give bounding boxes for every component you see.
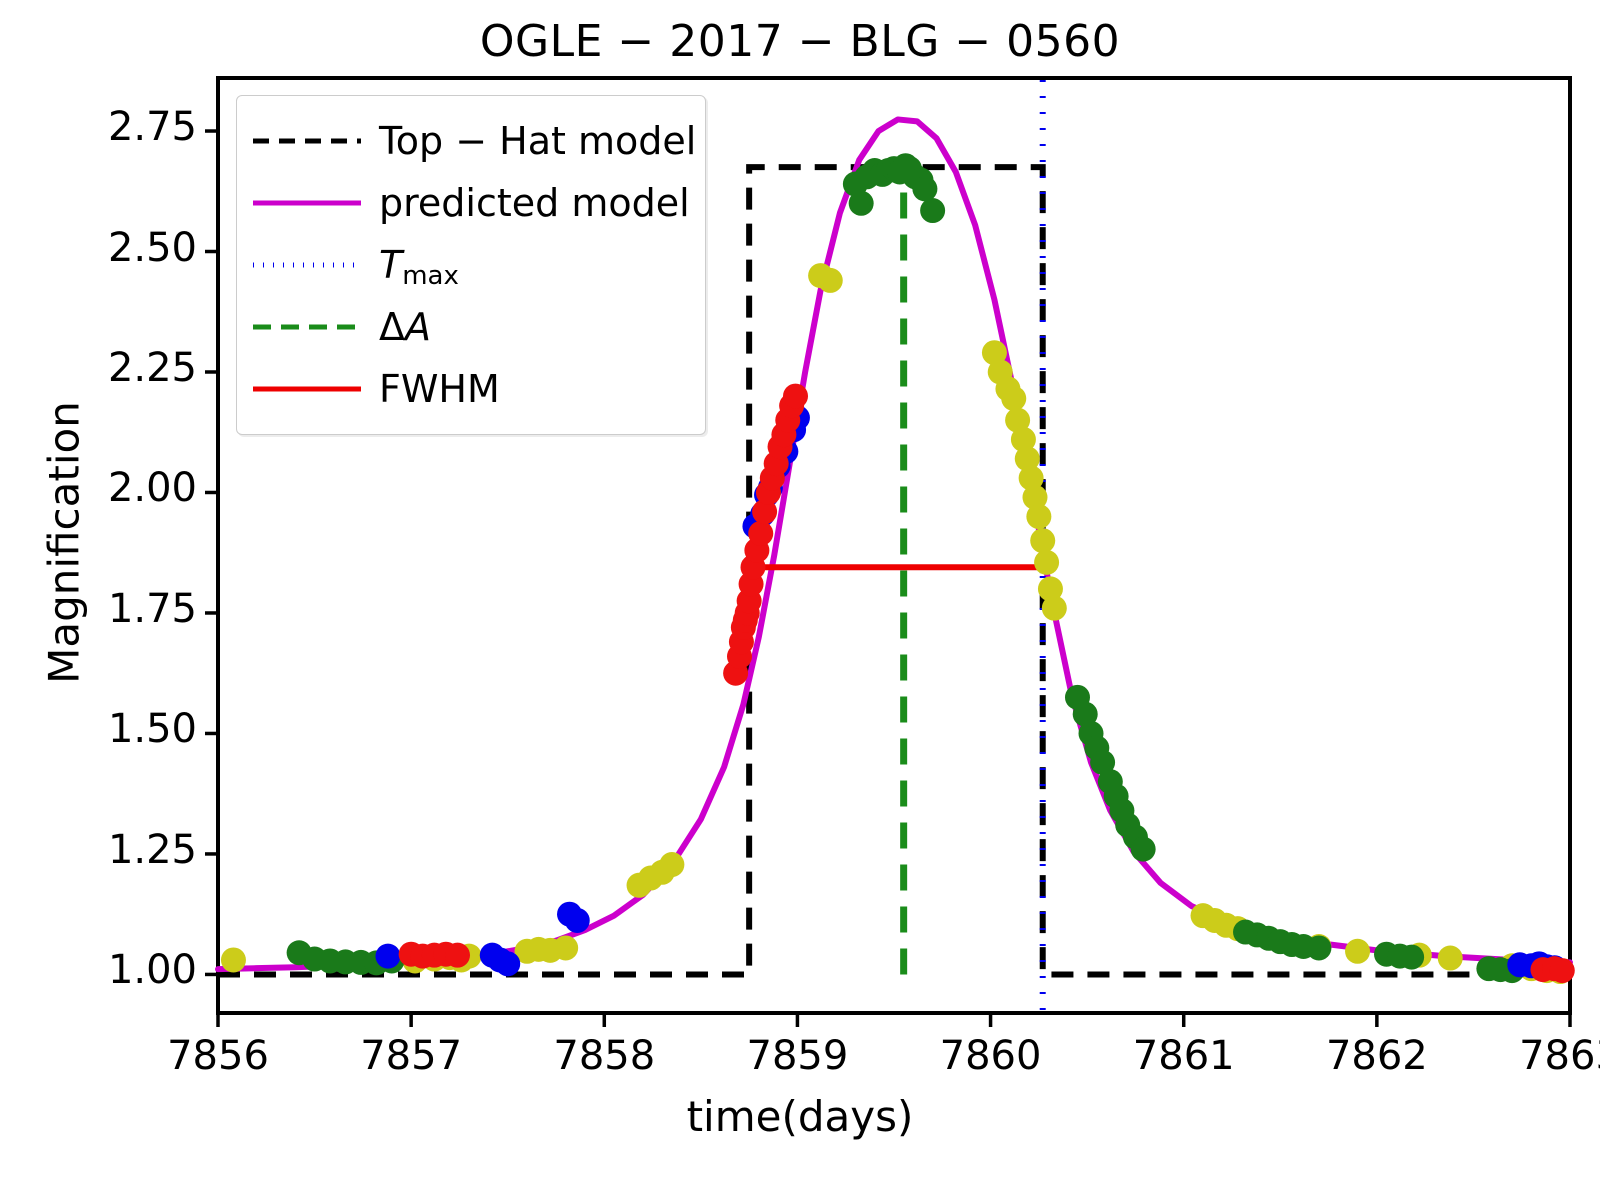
x-tick-label: 7857 — [311, 1033, 511, 1079]
y-tick-label: 2.50 — [37, 225, 197, 271]
data-point — [1438, 946, 1463, 971]
data-point — [1306, 935, 1331, 960]
y-tick-label: 1.00 — [37, 947, 197, 993]
data-point — [1131, 837, 1156, 862]
legend-swatch-solid-red — [251, 374, 363, 404]
data-point — [495, 951, 520, 976]
legend-label-fwhm: FWHM — [379, 367, 500, 411]
data-point — [1042, 596, 1067, 621]
legend-swatch-dashed-black — [251, 126, 363, 156]
data-point — [912, 176, 937, 201]
x-tick-label: 7861 — [1084, 1033, 1284, 1079]
figure-canvas: OGLE − 2017 − BLG − 0560 time(days) Magn… — [0, 0, 1600, 1200]
data-point — [221, 947, 246, 972]
y-tick-label: 2.00 — [37, 465, 197, 511]
data-point — [920, 198, 945, 223]
legend-label-top-hat-model: Top − Hat model — [379, 119, 696, 163]
legend-label-tmax: Tmax — [379, 243, 459, 287]
data-point — [1026, 504, 1051, 529]
data-point — [659, 852, 684, 877]
data-point — [565, 908, 590, 933]
data-point — [1030, 528, 1055, 553]
y-tick-label: 1.25 — [37, 827, 197, 873]
data-point — [1034, 550, 1059, 575]
y-tick-label: 2.75 — [37, 104, 197, 150]
legend: Top − Hat model predicted model Tmax ΔA … — [236, 95, 706, 435]
legend-item-delta-a: ΔA — [251, 296, 689, 358]
legend-item-predicted-model: predicted model — [251, 172, 689, 234]
data-point — [818, 268, 843, 293]
x-tick-label: 7858 — [504, 1033, 704, 1079]
x-tick-label: 7859 — [697, 1033, 897, 1079]
data-point — [1345, 939, 1370, 964]
y-tick-label: 1.75 — [37, 586, 197, 632]
x-axis-label: time(days) — [0, 1092, 1600, 1141]
legend-swatch-solid-magenta — [251, 188, 363, 218]
y-tick-label: 2.25 — [37, 345, 197, 391]
legend-swatch-dotted-blue — [251, 250, 363, 280]
data-point — [748, 521, 773, 546]
data-point — [783, 384, 808, 409]
legend-item-top-hat-model: Top − Hat model — [251, 110, 689, 172]
data-point — [553, 935, 578, 960]
x-tick-label: 7856 — [118, 1033, 318, 1079]
data-point — [445, 943, 470, 968]
x-tick-label: 7863 — [1470, 1033, 1600, 1079]
data-point — [375, 944, 400, 969]
legend-swatch-dashed-green — [251, 312, 363, 342]
legend-label-predicted-model: predicted model — [379, 181, 690, 225]
y-tick-label: 1.50 — [37, 706, 197, 752]
data-point — [1550, 958, 1575, 983]
x-tick-label: 7862 — [1277, 1033, 1477, 1079]
y-axis-label: Magnification — [40, 243, 89, 843]
legend-item-tmax: Tmax — [251, 234, 689, 296]
legend-item-fwhm: FWHM — [251, 358, 689, 420]
data-point — [1001, 386, 1026, 411]
legend-label-delta-a: ΔA — [379, 305, 431, 349]
x-tick-label: 7860 — [891, 1033, 1091, 1079]
data-point — [1399, 945, 1424, 970]
data-point — [849, 191, 874, 216]
